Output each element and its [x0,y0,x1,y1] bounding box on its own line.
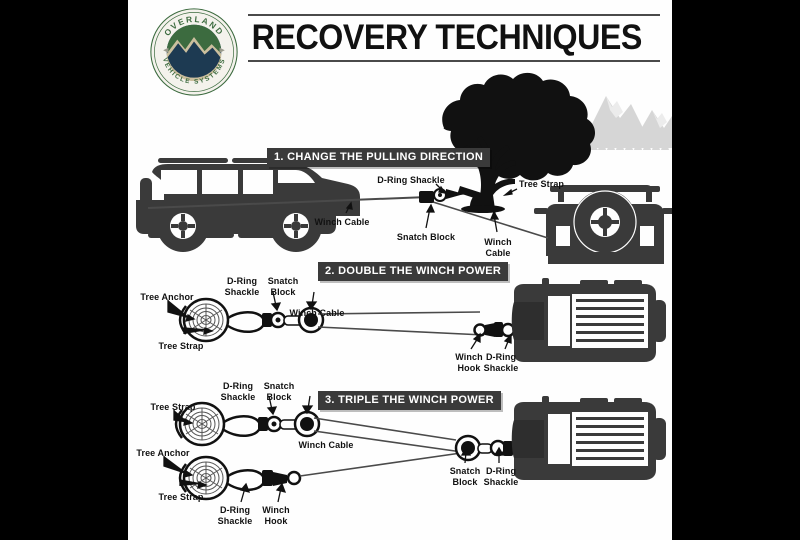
label-snatch-block-lower: Snatch Block [450,466,481,487]
d-ring-shackle [446,189,464,199]
d-ring-shackle [262,470,287,486]
header: OVERLAND VEHICLE SYSTEMS RECOVERY TECHNI… [128,0,672,92]
section-2-band: 2. DOUBLE THE WINCH POWER [318,262,508,281]
label-tree-anchor: Tree Anchor [140,292,193,303]
label-winch-hook: Winch Hook [262,505,289,526]
content-panel: OVERLAND VEHICLE SYSTEMS RECOVERY TECHNI… [128,0,672,540]
snatch-block-pulley [456,436,480,460]
tree-strap-loop [228,312,264,332]
winch-hook [475,323,496,337]
section-3-band: 3. TRIPLE THE WINCH POWER [318,391,501,410]
section-3-art [176,396,666,499]
callout-arrows-1 [346,184,517,232]
jeep-side-view [136,158,360,252]
label-winch-cable-2: Winch Cable [484,237,511,258]
label-tree-strap-upper: Tree Strap [150,402,195,413]
label-d-ring-shackle-lower: D-Ring Shackle [484,466,519,487]
title-block: RECOVERY TECHNIQUES [248,14,660,76]
label-winch-cable-1: Winch Cable [314,217,369,228]
callout-arrows-2 [168,292,511,349]
label-d-ring-shackle: D-Ring Shackle [225,276,260,297]
label-d-ring-shackle-hook: D-Ring Shackle [218,505,253,526]
label-snatch-block-upper: Snatch Block [264,381,295,402]
label-tree-strap-lower: Tree Strap [158,492,203,503]
infographic-canvas: OVERLAND VEHICLE SYSTEMS RECOVERY TECHNI… [0,0,800,540]
mountain-range [546,96,672,150]
page-title: RECOVERY TECHNIQUES [248,16,627,60]
winch-cable-lines [148,193,548,238]
d-ring-shackle [494,322,514,337]
label-winch-hook: Winch Hook [455,352,482,373]
d-ring-shackle [491,441,513,456]
label-d-ring-shackle-upper: D-Ring Shackle [221,381,256,402]
label-tree-anchor-lower: Tree Anchor [136,448,189,459]
label-winch-cable: Winch Cable [298,440,353,451]
jeep-rear-view [534,185,672,264]
jeep-top-view [512,396,666,480]
label-tree-strap: Tree Strap [519,179,564,190]
label-winch-cable: Winch Cable [289,308,344,319]
tree-silhouette [442,73,595,216]
tree-stump-anchor [184,299,228,341]
d-ring-shackle [262,313,285,327]
section-1-band: 1. CHANGE THE PULLING DIRECTION [267,148,490,167]
title-rule-bottom [248,60,660,62]
overland-vehicle-systems-logo: OVERLAND VEHICLE SYSTEMS [150,8,238,96]
winch-hook [288,472,300,484]
label-tree-strap: Tree Strap [158,341,203,352]
label-snatch-block: Snatch Block [268,276,299,297]
cable-jeep-to-block [148,197,428,208]
label-d-ring-shackle: D-Ring Shackle [377,175,444,186]
cable-block-to-tree [433,193,476,196]
label-snatch-block: Snatch Block [397,232,455,243]
label-d-ring-shackle-2: D-Ring Shackle [484,352,519,373]
snatch-block-pulley [419,186,481,203]
jeep-top-view [512,278,666,362]
